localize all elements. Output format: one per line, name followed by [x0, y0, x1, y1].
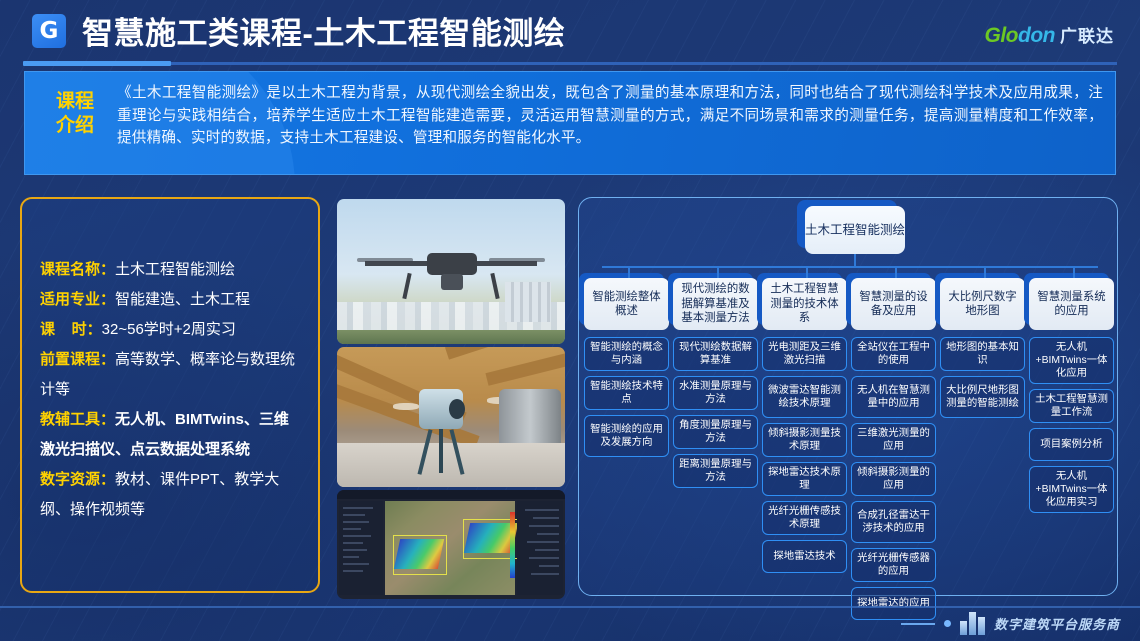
diagram-header-node[interactable]: 大比例尺数字地形图: [940, 278, 1025, 330]
diagram-column: 智能测绘整体概述智能测绘的概念与内涵智能测绘技术特点智能测绘的应用及发展方向: [584, 278, 669, 625]
course-intro-panel: 课程 介绍 《土木工程智能测绘》是以土木工程为背景，从现代测绘全貌出发，既包含了…: [24, 71, 1116, 175]
connector-drop: [717, 268, 719, 278]
diagram-child-node[interactable]: 探地雷达技术原理: [762, 462, 847, 496]
curriculum-diagram-panel: 土木工程智能测绘 智能测绘整体概述智能测绘的概念与内涵智能测绘技术特点智能测绘的…: [578, 197, 1118, 596]
drone-icon: [361, 241, 541, 303]
total-station-icon: [415, 389, 467, 475]
connector-drop: [806, 268, 808, 278]
info-row-value: 智能建造、土木工程: [115, 291, 250, 308]
footer-dot-icon: [944, 620, 951, 627]
connector-drop: [628, 268, 630, 278]
diagram-header-node[interactable]: 智慧测量系统的应用: [1029, 278, 1114, 330]
header-node-label: 土木工程智慧测量的技术体系: [762, 278, 847, 330]
diagram-child-node[interactable]: 土木工程智慧测量工作流: [1029, 389, 1114, 423]
diagram-child-node[interactable]: 探地雷达技术: [762, 540, 847, 573]
course-intro-label: 课程 介绍: [51, 90, 99, 138]
course-intro-label-line1: 课程: [51, 90, 99, 114]
glodon-logo-icon: G: [32, 14, 66, 48]
info-row: 数字资源：教材、课件PPT、教学大纲、操作视频等: [40, 465, 302, 525]
root-node-label: 土木工程智能测绘: [805, 206, 905, 254]
info-row: 教辅工具：无人机、BIMTwins、三维激光扫描仪、点云数据处理系统: [40, 405, 302, 465]
connector-bus: [602, 266, 1098, 268]
info-row-value: 土木工程智能测绘: [115, 261, 235, 278]
diagram-root-node[interactable]: 土木工程智能测绘: [805, 206, 905, 254]
brand-logo: Glo don 广联达: [985, 22, 1114, 48]
diagram-child-node[interactable]: 合成孔径雷达干涉技术的应用: [851, 501, 936, 543]
diagram-header-node[interactable]: 土木工程智慧测量的技术体系: [762, 278, 847, 330]
diagram-header-node[interactable]: 智慧测量的设备及应用: [851, 278, 936, 330]
diagram-child-node[interactable]: 大比例尺地形图测量的智能测绘: [940, 376, 1025, 418]
diagram-header-node[interactable]: 智能测绘整体概述: [584, 278, 669, 330]
diagram-child-node[interactable]: 角度测量原理与方法: [673, 415, 758, 449]
footer-line: [901, 623, 935, 625]
diagram-child-node[interactable]: 水准测量原理与方法: [673, 376, 758, 410]
diagram-child-node[interactable]: 光纤光栅传感器的应用: [851, 548, 936, 582]
info-row-key: 适用专业：: [40, 291, 115, 308]
course-intro-label-line2: 介绍: [51, 114, 99, 138]
header-divider-highlight: [23, 61, 171, 66]
drone-photo: [337, 199, 565, 344]
info-row-key: 数字资源：: [40, 471, 115, 488]
diagram-child-node[interactable]: 全站仪在工程中的使用: [851, 337, 936, 371]
diagram-column: 现代测绘的数据解算基准及基本测量方法现代测绘数据解算基准水准测量原理与方法角度测…: [673, 278, 758, 625]
header-node-label: 智慧测量的设备及应用: [851, 278, 936, 330]
diagram-child-node[interactable]: 微波雷达智能测绘技术原理: [762, 376, 847, 418]
diagram-child-node[interactable]: 光电测距及三维激光扫描: [762, 337, 847, 371]
diagram-header-node[interactable]: 现代测绘的数据解算基准及基本测量方法: [673, 278, 758, 330]
info-row-key: 课程名称：: [40, 261, 115, 278]
photo-column: [337, 199, 565, 599]
course-intro-text: 《土木工程智能测绘》是以土木工程为背景，从现代测绘全貌出发，既包含了测量的基本原…: [117, 82, 1103, 150]
page-title: 智慧施工类课程-土木工程智能测绘: [82, 8, 565, 53]
diagram-column: 土木工程智慧测量的技术体系光电测距及三维激光扫描微波雷达智能测绘技术原理倾斜摄影…: [762, 278, 847, 625]
diagram-column: 大比例尺数字地形图地形图的基本知识大比例尺地形图测量的智能测绘: [940, 278, 1025, 625]
diagram-columns: 智能测绘整体概述智能测绘的概念与内涵智能测绘技术特点智能测绘的应用及发展方向现代…: [582, 278, 1116, 625]
connector-drop: [895, 268, 897, 278]
diagram-child-node[interactable]: 倾斜摄影测量技术原理: [762, 423, 847, 457]
building-icon: [960, 612, 985, 635]
diagram-child-node[interactable]: 光纤光栅传感技术原理: [762, 501, 847, 535]
diagram-child-node[interactable]: 智能测绘的应用及发展方向: [584, 415, 669, 457]
connector-drop: [1073, 268, 1075, 278]
brand-name-chinese: 广联达: [1060, 22, 1114, 47]
footer-brand: 数字建筑平台服务商: [901, 612, 1120, 635]
info-row-key: 前置课程：: [40, 351, 115, 368]
diagram-child-node[interactable]: 项目案例分析: [1029, 428, 1114, 461]
diagram-child-node[interactable]: 倾斜摄影测量的应用: [851, 462, 936, 496]
info-row: 课 时：32~56学时+2周实习: [40, 315, 302, 345]
diagram-child-node[interactable]: 无人机+BIMTwins一体化应用: [1029, 337, 1114, 384]
info-row: 课程名称：土木工程智能测绘: [40, 255, 302, 285]
header-divider: [23, 62, 1117, 65]
header-node-label: 大比例尺数字地形图: [940, 278, 1025, 330]
brand-name-blue: don: [1018, 24, 1055, 48]
page-header: G 智慧施工类课程-土木工程智能测绘 Glo don 广联达: [0, 0, 1140, 60]
footer-slogan: 数字建筑平台服务商: [994, 614, 1120, 633]
header-node-label: 智能测绘整体概述: [584, 278, 669, 330]
info-row: 前置课程：高等数学、概率论与数理统计等: [40, 345, 302, 405]
diagram-child-node[interactable]: 智能测绘的概念与内涵: [584, 337, 669, 371]
connector-stem: [854, 254, 856, 266]
software-screenshot: [337, 490, 565, 599]
footer-divider: [0, 606, 1140, 608]
diagram-child-node[interactable]: 地形图的基本知识: [940, 337, 1025, 371]
diagram-column: 智慧测量的设备及应用全站仪在工程中的使用无人机在智慧测量中的应用三维激光测量的应…: [851, 278, 936, 625]
header-node-label: 智慧测量系统的应用: [1029, 278, 1114, 330]
course-info-card: 课程名称：土木工程智能测绘适用专业：智能建造、土木工程课 时：32~56学时+2…: [20, 197, 320, 593]
diagram-child-node[interactable]: 无人机+BIMTwins一体化应用实习: [1029, 466, 1114, 513]
info-row: 适用专业：智能建造、土木工程: [40, 285, 302, 315]
diagram-column: 智慧测量系统的应用无人机+BIMTwins一体化应用土木工程智慧测量工作流项目案…: [1029, 278, 1114, 625]
diagram-child-node[interactable]: 距离测量原理与方法: [673, 454, 758, 488]
connector-drop: [984, 268, 986, 278]
header-node-label: 现代测绘的数据解算基准及基本测量方法: [673, 278, 758, 330]
diagram-child-node[interactable]: 无人机在智慧测量中的应用: [851, 376, 936, 418]
info-row-key: 课 时：: [40, 321, 102, 338]
info-row-value: 32~56学时+2周实习: [102, 321, 236, 338]
diagram-child-node[interactable]: 现代测绘数据解算基准: [673, 337, 758, 371]
info-row-key: 教辅工具：: [40, 411, 115, 428]
brand-name-green: Glo: [985, 24, 1019, 48]
diagram-child-node[interactable]: 智能测绘技术特点: [584, 376, 669, 410]
laser-scanner-photo: [337, 347, 565, 487]
diagram-child-node[interactable]: 三维激光测量的应用: [851, 423, 936, 457]
